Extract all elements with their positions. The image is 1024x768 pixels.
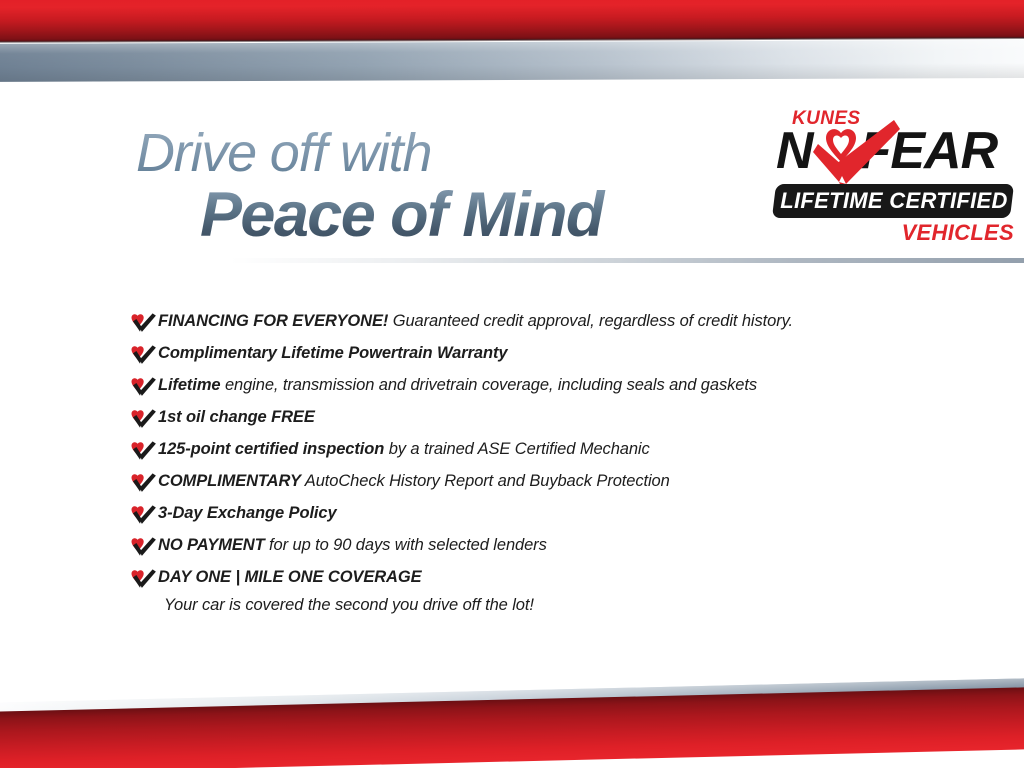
top-gray-stripe-sheen <box>0 40 1024 82</box>
benefit-detail: engine, transmission and drivetrain cove… <box>220 376 757 394</box>
heart-check-icon <box>130 344 158 366</box>
benefit-text: Complimentary Lifetime Powertrain Warran… <box>158 342 990 364</box>
benefit-item: Lifetime engine, transmission and drivet… <box>130 374 990 406</box>
benefit-lead: NO PAYMENT <box>158 536 265 554</box>
benefit-detail: Guaranteed credit approval, regardless o… <box>388 312 793 330</box>
benefit-detail: by a trained ASE Certified Mechanic <box>384 440 649 458</box>
heart-check-icon <box>130 472 158 494</box>
benefit-lead: 3-Day Exchange Policy <box>158 504 337 522</box>
benefit-item: Complimentary Lifetime Powertrain Warran… <box>130 342 990 374</box>
promo-flyer: Drive off with Peace of Mind KUNES NFEAR… <box>0 0 1024 768</box>
benefit-item: 1st oil change FREE <box>130 406 990 438</box>
heart-check-icon <box>130 344 158 366</box>
benefit-text: 3-Day Exchange Policy <box>158 502 990 524</box>
benefit-item: COMPLIMENTARY AutoCheck History Report a… <box>130 470 990 502</box>
benefit-lead: Lifetime <box>158 376 220 394</box>
heart-check-icon <box>130 504 158 526</box>
benefits-list: FINANCING FOR EVERYONE! Guaranteed credi… <box>130 310 990 622</box>
kunes-no-fear-logo: KUNES NFEAR LIFETIME CERTIFIED VEHICLES <box>770 108 1018 244</box>
headline-line-2: Peace of Mind <box>200 182 716 249</box>
benefit-text: 1st oil change FREE <box>158 406 990 428</box>
benefit-text: COMPLIMENTARY AutoCheck History Report a… <box>158 470 990 492</box>
heart-check-icon <box>130 440 158 462</box>
heart-check-icon <box>130 568 158 590</box>
heart-check-icon <box>130 568 158 590</box>
benefit-subtext: Your car is covered the second you drive… <box>164 594 534 622</box>
benefit-subrow-spacer <box>130 594 164 622</box>
benefit-item: 3-Day Exchange Policy <box>130 502 990 534</box>
header-divider <box>230 258 1024 263</box>
heart-check-icon <box>130 472 158 494</box>
heart-check-icon <box>130 536 158 558</box>
heart-check-icon <box>130 376 158 398</box>
benefit-text: Lifetime engine, transmission and drivet… <box>158 374 990 396</box>
heart-check-icon <box>130 504 158 526</box>
top-red-stripe <box>0 0 1024 42</box>
headline-line-1: Drive off with <box>136 126 716 180</box>
benefit-text: NO PAYMENT for up to 90 days with select… <box>158 534 990 556</box>
benefit-text: 125-point certified inspection by a trai… <box>158 438 990 460</box>
logo-certified-text: LIFETIME CERTIFIED <box>780 188 1008 214</box>
benefit-text: DAY ONE | MILE ONE COVERAGE <box>158 566 990 588</box>
top-banner <box>0 0 1024 86</box>
benefit-text: FINANCING FOR EVERYONE! Guaranteed credi… <box>158 310 990 332</box>
benefit-detail: for up to 90 days with selected lenders <box>265 536 547 554</box>
benefit-lead: Complimentary Lifetime Powertrain Warran… <box>158 344 507 362</box>
bottom-banner <box>0 678 1024 768</box>
heart-check-icon <box>130 440 158 462</box>
benefit-detail: AutoCheck History Report and Buyback Pro… <box>301 472 670 490</box>
headline: Drive off with Peace of Mind <box>136 126 716 249</box>
heart-check-icon <box>130 312 158 334</box>
benefit-lead: DAY ONE | MILE ONE COVERAGE <box>158 568 422 586</box>
heart-check-icon <box>130 312 158 334</box>
benefit-subrow: Your car is covered the second you drive… <box>130 594 990 622</box>
benefit-lead: FINANCING FOR EVERYONE! <box>158 312 388 330</box>
benefit-lead: 1st oil change FREE <box>158 408 315 426</box>
benefit-item: FINANCING FOR EVERYONE! Guaranteed credi… <box>130 310 990 342</box>
benefit-lead: COMPLIMENTARY <box>158 472 301 490</box>
heart-check-icon <box>130 408 158 430</box>
heart-check-icon <box>130 408 158 430</box>
benefit-item: 125-point certified inspection by a trai… <box>130 438 990 470</box>
benefit-item: NO PAYMENT for up to 90 days with select… <box>130 534 990 566</box>
heart-check-icon <box>130 536 158 558</box>
heart-check-icon <box>130 376 158 398</box>
logo-vehicles-text: VEHICLES <box>902 220 1014 246</box>
benefit-lead: 125-point certified inspection <box>158 440 384 458</box>
